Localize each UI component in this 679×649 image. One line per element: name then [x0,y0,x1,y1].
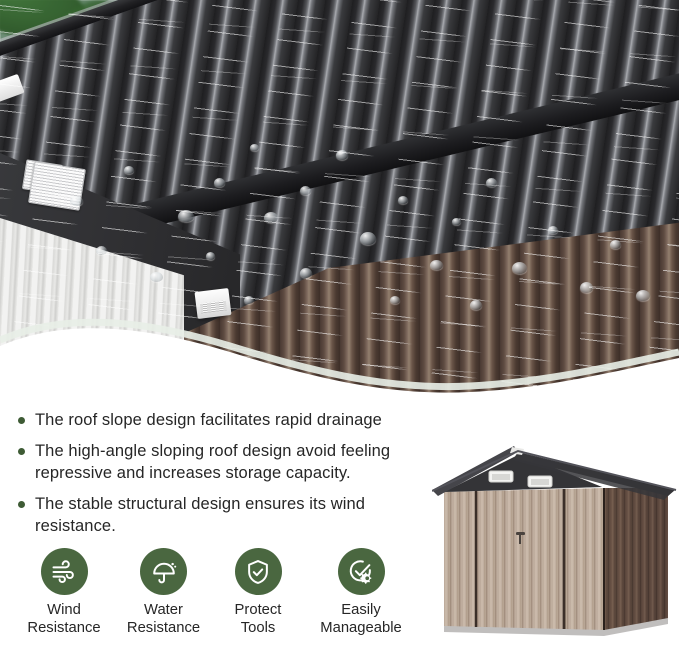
bullet-text: The high-angle sloping roof design avoid… [35,440,448,484]
bullet-text: The roof slope design facilitates rapid … [35,409,382,431]
shield-check-icon [244,558,272,586]
check-gear-icon-badge [338,548,385,595]
feature-label: Wind Resistance [27,602,100,637]
feature-water-resistance: Water Resistance [112,548,215,637]
feature-easily-manageable: Easily Manageable [301,548,421,637]
list-item: The stable structural design ensures its… [18,493,448,537]
feature-label: Easily Manageable [320,602,401,637]
list-item: The roof slope design facilitates rapid … [18,409,448,431]
shed-door-handle [516,532,525,535]
feature-label: Protect Tools [235,602,282,637]
bullet-dot-icon [18,501,25,508]
wind-icon-badge [41,548,88,595]
product-feature-panel: The roof slope design facilitates rapid … [0,0,679,649]
umbrella-rain-icon-badge [140,548,187,595]
list-item: The high-angle sloping roof design avoid… [18,440,448,484]
shed-vent-louvers [531,479,549,485]
feature-protect-tools: Protect Tools [215,548,301,637]
bullet-text: The stable structural design ensures its… [35,493,448,537]
bullet-dot-icon [18,448,25,455]
shield-check-icon-badge [235,548,282,595]
wind-icon [50,558,78,586]
shed-door-lock [519,535,521,544]
rain-on-metal-shed-roof-photo [0,0,679,410]
shed-front-wall-shade [444,488,604,630]
metal-storage-shed-photo [432,440,679,640]
umbrella-rain-icon [150,558,178,586]
check-gear-icon [347,558,375,586]
bullet-dot-icon [18,417,25,424]
feature-icon-row: Wind Resistance Water Resistance [16,548,426,637]
feature-label: Water Resistance [127,602,200,637]
shed-vent-louvers [492,474,510,480]
feature-wind-resistance: Wind Resistance [16,548,112,637]
shed-side-wall-shade [604,488,668,630]
white-gutter-box [194,288,231,319]
wall-vent-icon [28,161,86,211]
feature-bullet-list: The roof slope design facilitates rapid … [18,409,448,546]
